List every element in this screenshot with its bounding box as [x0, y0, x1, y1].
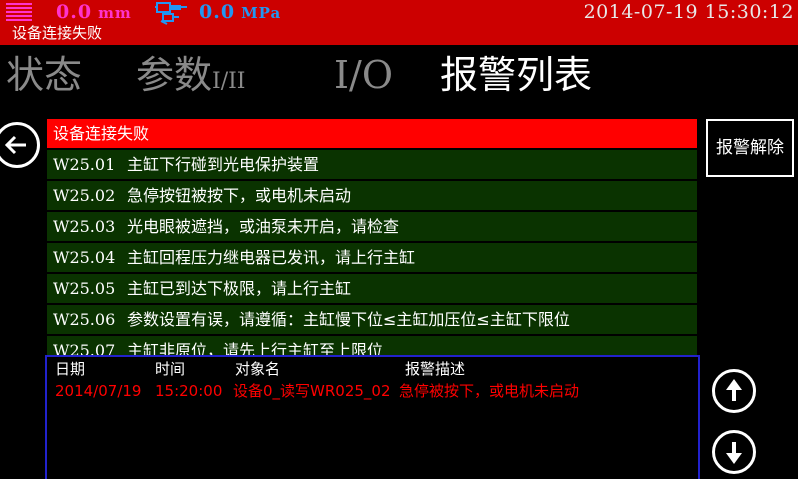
alarm-row[interactable]: W25.04主缸回程压力继电器已发讯，请上行主缸 — [47, 243, 697, 272]
alarm-row[interactable]: W25.02急停按钮被按下，或电机未启动 — [47, 181, 697, 210]
history-cell-description: 急停被按下，或电机未启动 — [399, 380, 579, 402]
alarm-history-panel: 日期 时间 对象名 报警描述 2014/07/1915:20:00设备0_读写W… — [45, 355, 700, 479]
column-header-description: 报警描述 — [405, 358, 465, 380]
alarm-text: 主缸已到达下极限，请上行主缸 — [127, 274, 351, 303]
alarm-history-header: 日期 时间 对象名 报警描述 — [47, 358, 698, 380]
alarm-code: W25.04 — [47, 243, 127, 272]
position-value: 0.0 — [56, 1, 92, 23]
down-arrow-icon — [715, 433, 753, 471]
tab-status[interactable]: 状态 — [6, 49, 82, 101]
tab-parameters[interactable]: 参数I/II — [136, 49, 246, 108]
nav-tabs: 状态 参数I/II I/O 报警列表 — [0, 45, 798, 107]
alarm-row[interactable]: W25.01主缸下行碰到光电保护装置 — [47, 150, 697, 179]
pressure-value: 0.0 — [199, 1, 235, 23]
alarm-text: 主缸下行碰到光电保护装置 — [127, 150, 319, 179]
tab-alarm-list[interactable]: 报警列表 — [440, 49, 592, 101]
position-unit: mm — [98, 4, 132, 22]
alarm-list: 设备连接失败W25.01主缸下行碰到光电保护装置W25.02急停按钮被按下，或电… — [47, 119, 697, 367]
alarm-text: 设备连接失败 — [47, 119, 149, 148]
tab-parameters-label: 参数 — [136, 53, 212, 97]
history-cell-time: 15:20:00 — [155, 380, 222, 402]
alarm-row[interactable]: W25.03光电眼被遮挡，或油泵未开启，请检查 — [47, 212, 697, 241]
connection-status-label: 设备连接失败 — [12, 24, 102, 43]
tab-parameters-sublabel: I/II — [212, 69, 245, 94]
scroll-down-button[interactable] — [712, 430, 756, 474]
up-arrow-icon — [715, 372, 753, 410]
alarm-code: W25.01 — [47, 150, 127, 179]
hydraulic-cylinder-icon — [155, 1, 189, 25]
back-arrow-icon — [0, 125, 37, 165]
reset-alarm-button[interactable]: 报警解除 — [706, 119, 794, 177]
datetime-display: 2014-07-19 15:30:12 — [584, 1, 794, 24]
alarm-code: W25.06 — [47, 305, 127, 334]
alarm-text: 参数设置有误，请遵循：主缸慢下位≤主缸加压位≤主缸下限位 — [127, 305, 570, 334]
alarm-row[interactable]: W25.05主缸已到达下极限，请上行主缸 — [47, 274, 697, 303]
tab-io[interactable]: I/O — [334, 49, 393, 101]
alarm-text: 光电眼被遮挡，或油泵未开启，请检查 — [127, 212, 399, 241]
hmi-screen: 0.0mm 0.0MPa 2014-07-19 15:30:12 设备连接失败 … — [0, 0, 798, 479]
position-readout: 0.0mm — [56, 0, 132, 25]
alarm-code: W25.05 — [47, 274, 127, 303]
tab-status-label: 状态 — [6, 53, 82, 97]
alarm-row[interactable]: 设备连接失败 — [47, 119, 697, 148]
history-cell-date: 2014/07/19 — [55, 380, 141, 402]
ruler-icon — [6, 3, 32, 22]
alarm-code: W25.02 — [47, 181, 127, 210]
pressure-readout: 0.0MPa — [199, 0, 281, 25]
alarm-text: 急停按钮被按下，或电机未启动 — [127, 181, 351, 210]
column-header-object: 对象名 — [235, 358, 280, 380]
scroll-up-button[interactable] — [712, 369, 756, 413]
column-header-date: 日期 — [55, 358, 85, 380]
alarm-row[interactable]: W25.06参数设置有误，请遵循：主缸慢下位≤主缸加压位≤主缸下限位 — [47, 305, 697, 334]
history-cell-object: 设备0_读写WR025_02 — [233, 380, 391, 402]
column-header-time: 时间 — [155, 358, 185, 380]
tab-io-label: I/O — [334, 53, 393, 97]
alarm-code: W25.03 — [47, 212, 127, 241]
status-bar: 0.0mm 0.0MPa 2014-07-19 15:30:12 设备连接失败 — [0, 0, 798, 45]
back-button[interactable] — [0, 122, 40, 168]
tab-alarm-list-label: 报警列表 — [440, 53, 592, 97]
alarm-text: 主缸回程压力继电器已发讯，请上行主缸 — [127, 243, 415, 272]
history-row[interactable]: 2014/07/1915:20:00设备0_读写WR025_02急停被按下，或电… — [47, 380, 698, 402]
alarm-history-body: 2014/07/1915:20:00设备0_读写WR025_02急停被按下，或电… — [47, 380, 698, 402]
pressure-unit: MPa — [241, 4, 281, 22]
